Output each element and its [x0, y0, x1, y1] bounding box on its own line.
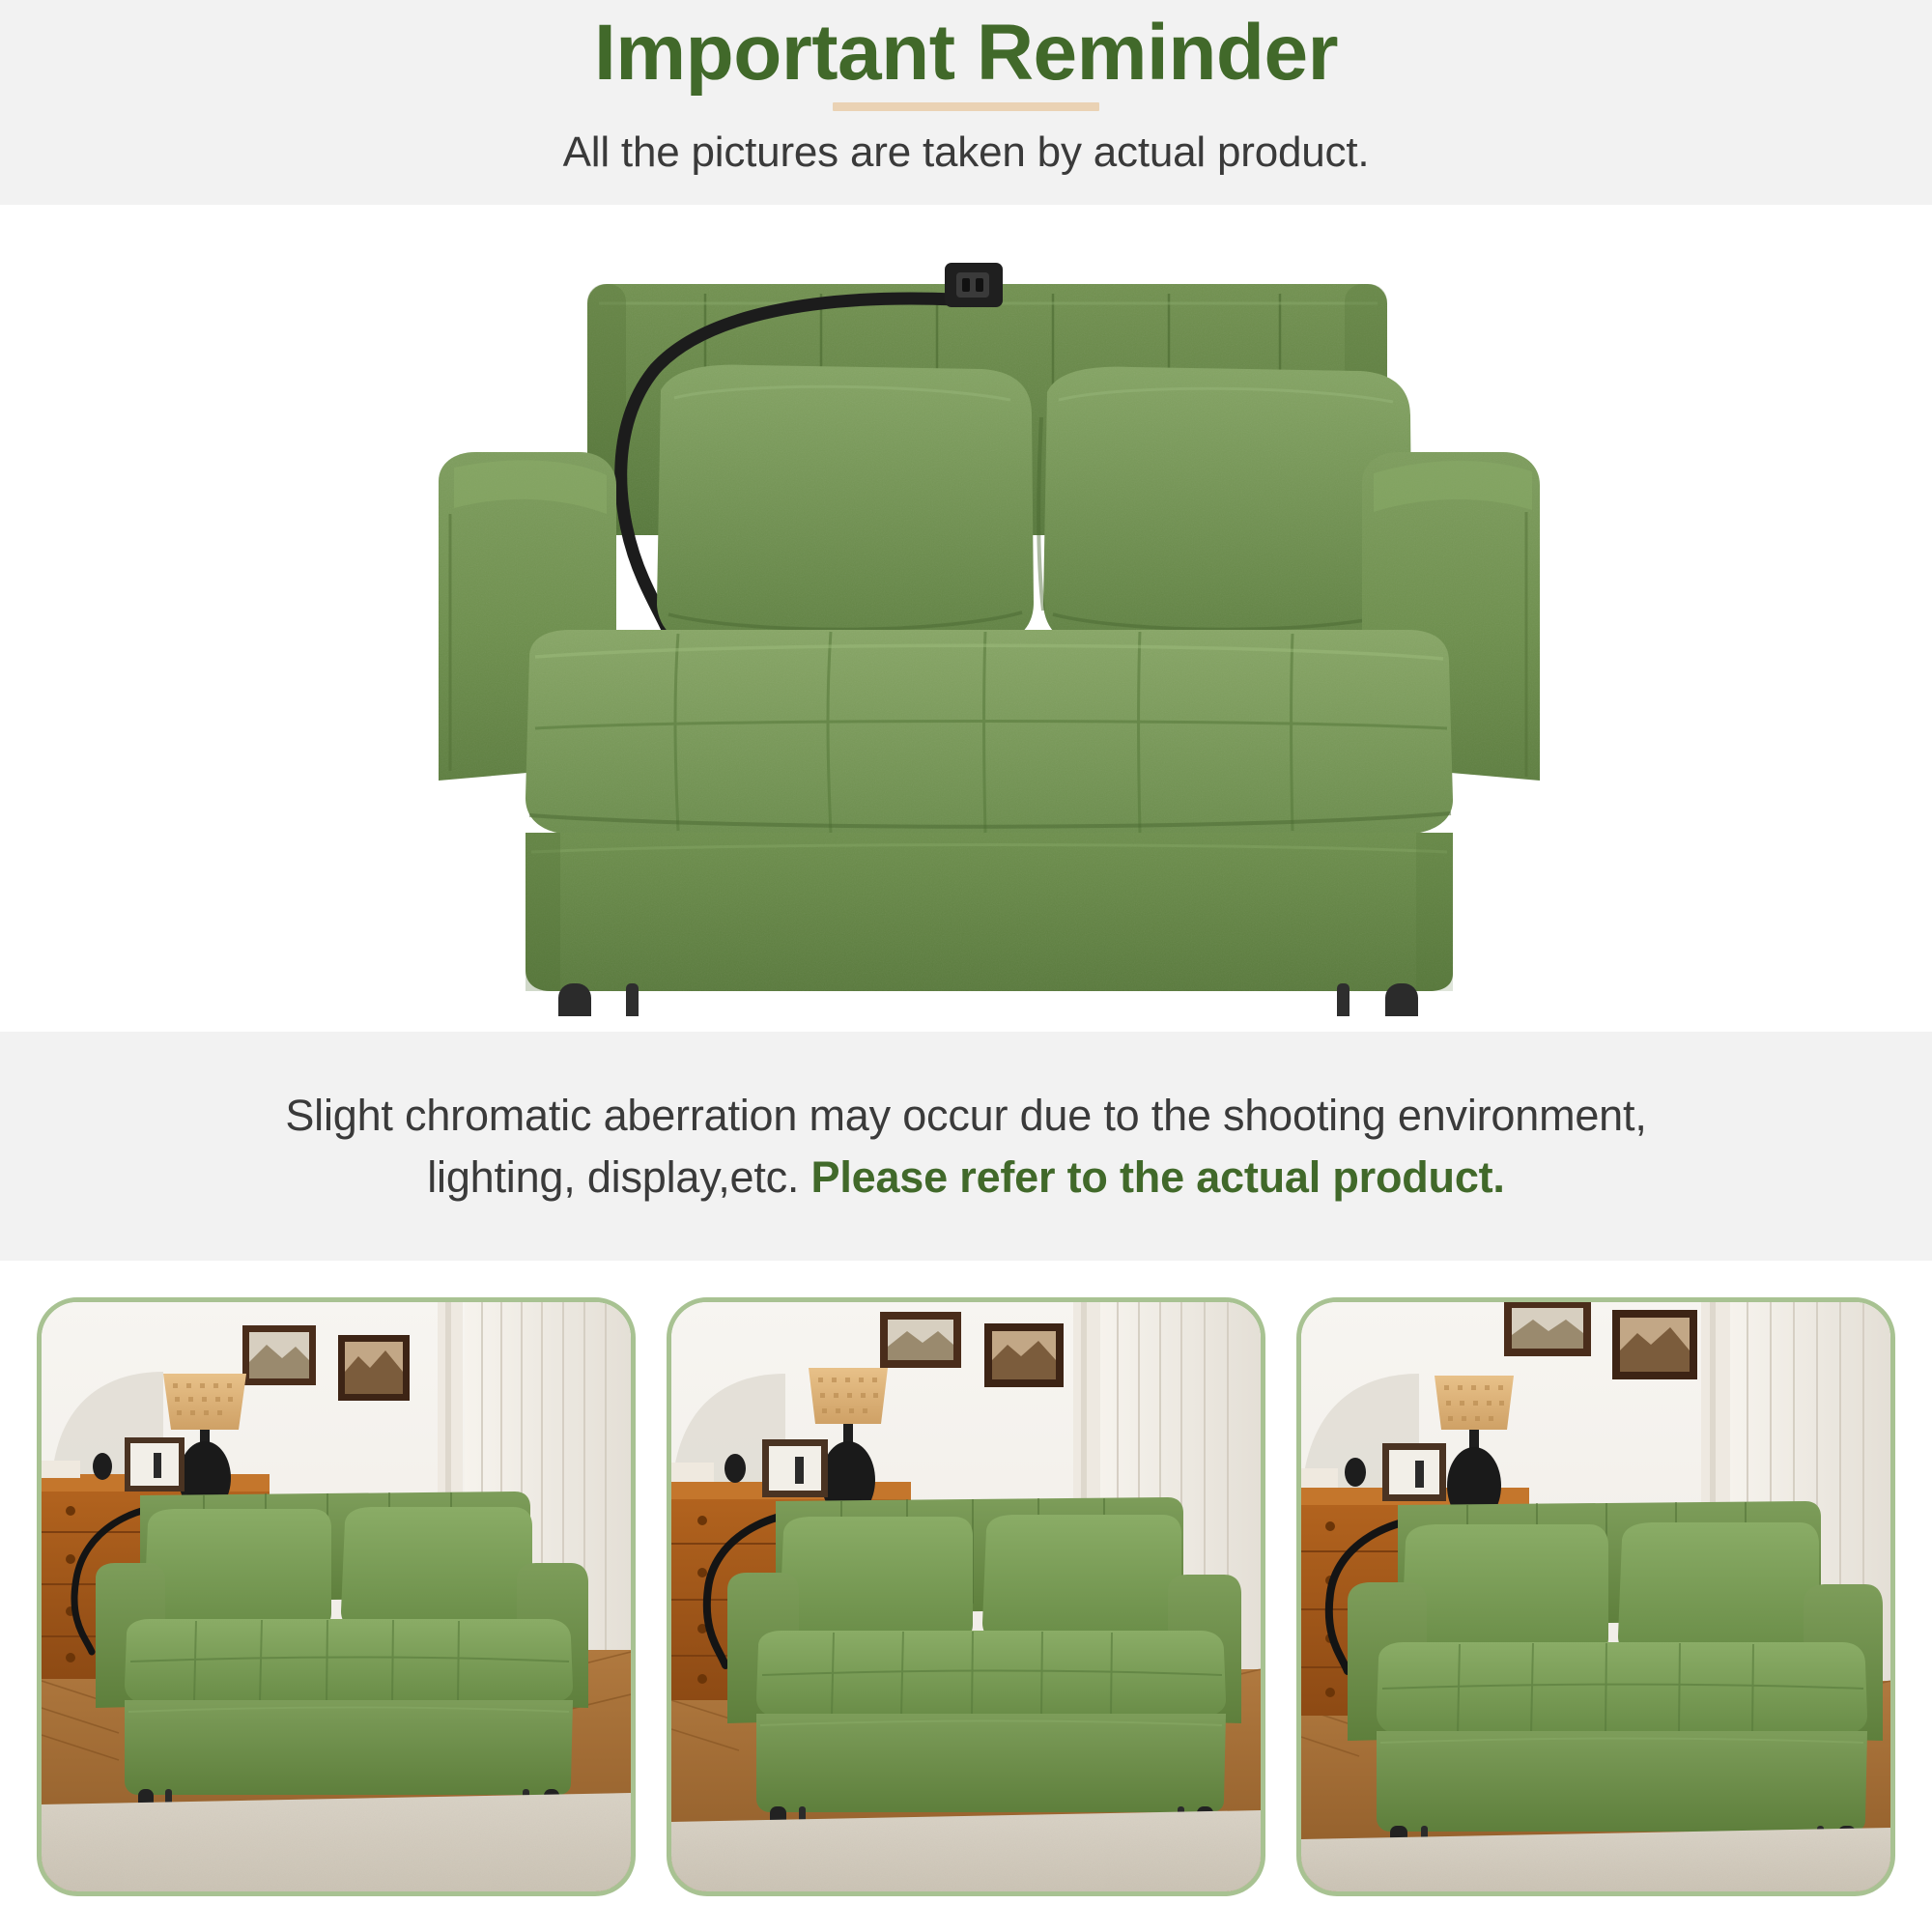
decor-vase	[1345, 1458, 1366, 1487]
wall-art-right	[338, 1335, 410, 1401]
sofa-seat-cushion	[526, 630, 1453, 835]
power-port-icon	[945, 263, 1003, 307]
wall-art-left	[1504, 1302, 1591, 1356]
thumbnail-room-scene-wide[interactable]	[37, 1297, 636, 1896]
note-line-2-emphasis: Please refer to the actual product.	[811, 1152, 1505, 1202]
thumbnail-row	[0, 1261, 1932, 1932]
wall-art-left	[242, 1325, 316, 1385]
wall-art-right	[1612, 1310, 1697, 1379]
book-stack	[671, 1463, 714, 1482]
header-band: Important Reminder All the pictures are …	[0, 0, 1932, 205]
desk-photo-frame	[125, 1437, 185, 1492]
sofa	[727, 1497, 1241, 1837]
sofa	[96, 1492, 588, 1818]
chromatic-aberration-note: Slight chromatic aberration may occur du…	[116, 1085, 1816, 1208]
wall-art-left	[880, 1312, 961, 1368]
throw-pillow-left	[657, 365, 1034, 649]
sofa-illustration	[415, 224, 1546, 1016]
note-band: Slight chromatic aberration may occur du…	[0, 1032, 1932, 1261]
header-subtitle: All the pictures are taken by actual pro…	[563, 128, 1370, 177]
book-stack	[42, 1461, 80, 1478]
decor-vase	[724, 1454, 746, 1483]
throw-pillow-right	[1038, 367, 1412, 649]
note-line-1: Slight chromatic aberration may occur du…	[285, 1091, 1646, 1140]
sofa-base-panel	[526, 833, 1453, 991]
thumbnail-room-scene-close[interactable]	[1296, 1297, 1895, 1896]
page-title: Important Reminder	[594, 12, 1338, 95]
desk-photo-frame	[762, 1439, 828, 1497]
hero-product-image	[0, 205, 1932, 1032]
thumbnail-room-scene-medium[interactable]	[667, 1297, 1265, 1896]
desk-photo-frame	[1382, 1443, 1446, 1501]
decor-vase	[93, 1453, 112, 1480]
product-reminder-page: Important Reminder All the pictures are …	[0, 0, 1932, 1932]
title-divider	[833, 102, 1099, 111]
sofa	[1348, 1501, 1883, 1857]
book-stack	[1301, 1468, 1338, 1488]
note-line-2-plain: lighting, display,etc.	[427, 1152, 810, 1202]
wall-art-right	[984, 1323, 1064, 1387]
